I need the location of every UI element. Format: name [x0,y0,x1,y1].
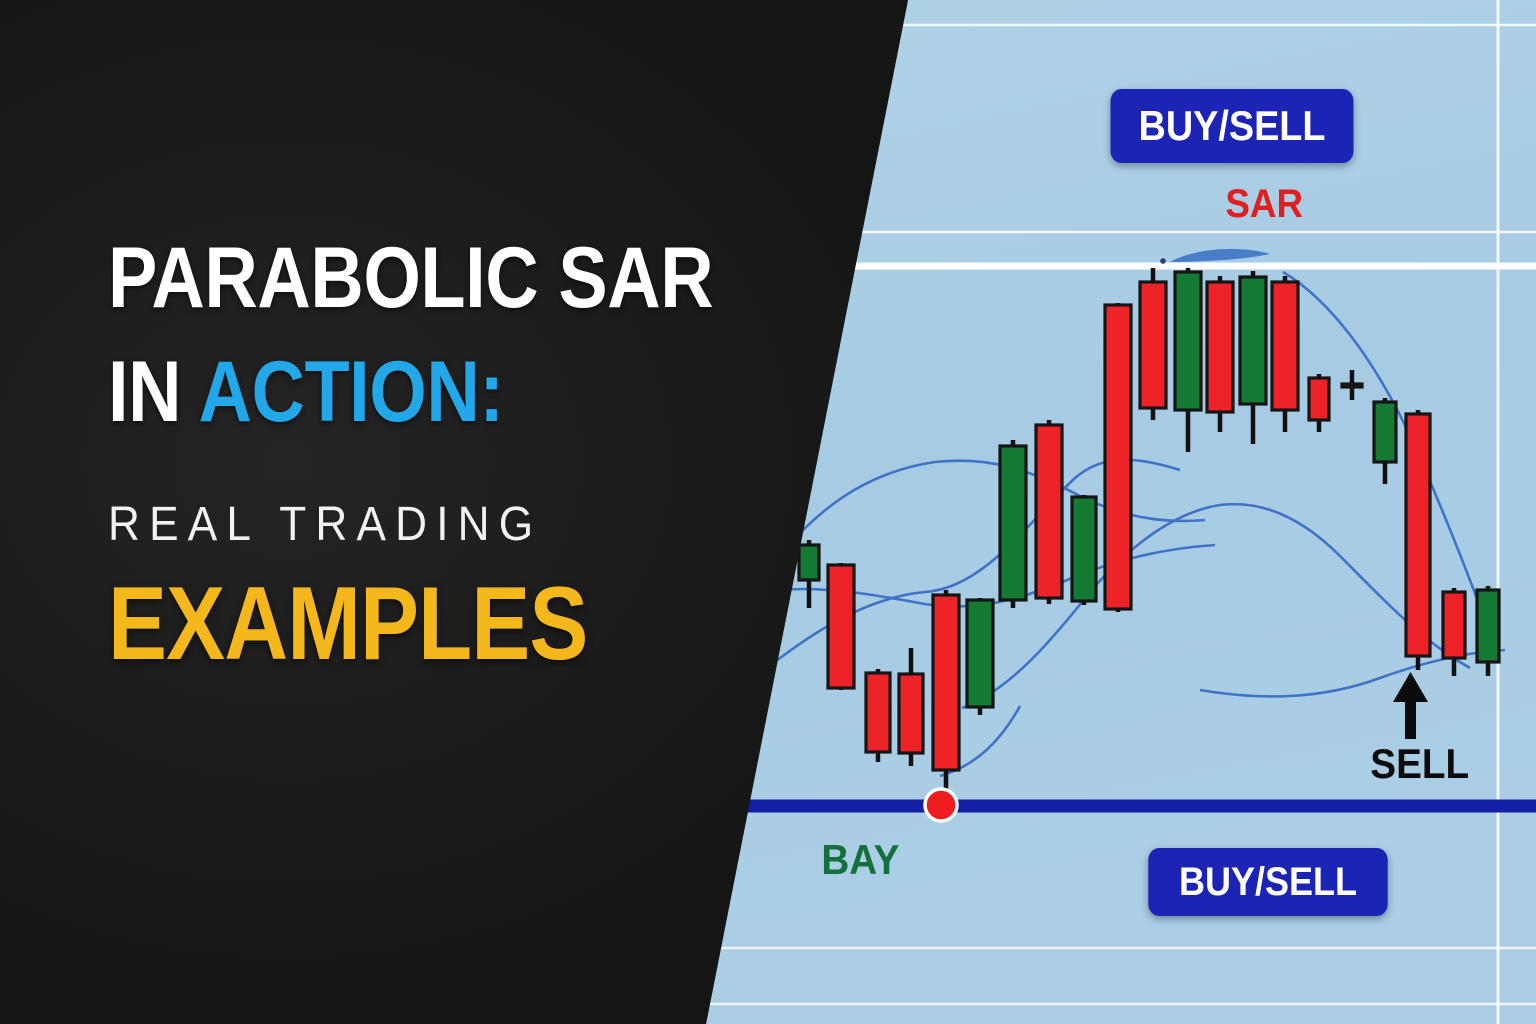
buy-signal-marker [925,789,957,821]
poster-canvas: BUY/SELL BUY/SELL SAR BAY SELL PARABOLIC… [0,0,1536,1024]
candle-body [1036,425,1062,598]
candle-body [1175,272,1201,410]
candle-body [1309,378,1329,420]
candle-body [967,600,993,707]
subheadline: REAL TRADING [108,497,678,552]
candle-body [1443,592,1465,658]
candle-body [1240,277,1266,404]
headline-examples: EXAMPLES [108,572,635,676]
candle-body [1272,282,1298,410]
candle-body [1374,402,1396,462]
candle-body [866,673,890,752]
candle-body [899,674,923,753]
sell-label: SELL [1370,740,1469,788]
candle-body [1342,384,1362,387]
candle-body [1105,305,1131,609]
headline-line-2-accent: ACTION: [198,344,503,440]
candle-body [828,565,854,688]
sar-label: SAR [1225,182,1303,227]
candle-body [1000,446,1026,600]
badge-buy-sell-top[interactable]: BUY/SELL [1111,89,1354,163]
bay-label: BAY [821,836,899,884]
candle-body [1207,282,1233,412]
candle-body [1140,282,1166,408]
candle-body [1406,414,1430,656]
candle-body [799,545,819,580]
headline-line-2: IN ACTION: [108,350,641,434]
candle-body [1072,497,1096,601]
headline-line-2-prefix: IN [108,344,198,440]
title-block: PARABOLIC SAR IN ACTION: REAL TRADING EX… [108,236,728,676]
candle-body [1477,590,1499,662]
candle-body [933,595,959,770]
headline-line-1: PARABOLIC SAR [108,236,641,320]
badge-buy-sell-bottom[interactable]: BUY/SELL [1148,848,1387,916]
